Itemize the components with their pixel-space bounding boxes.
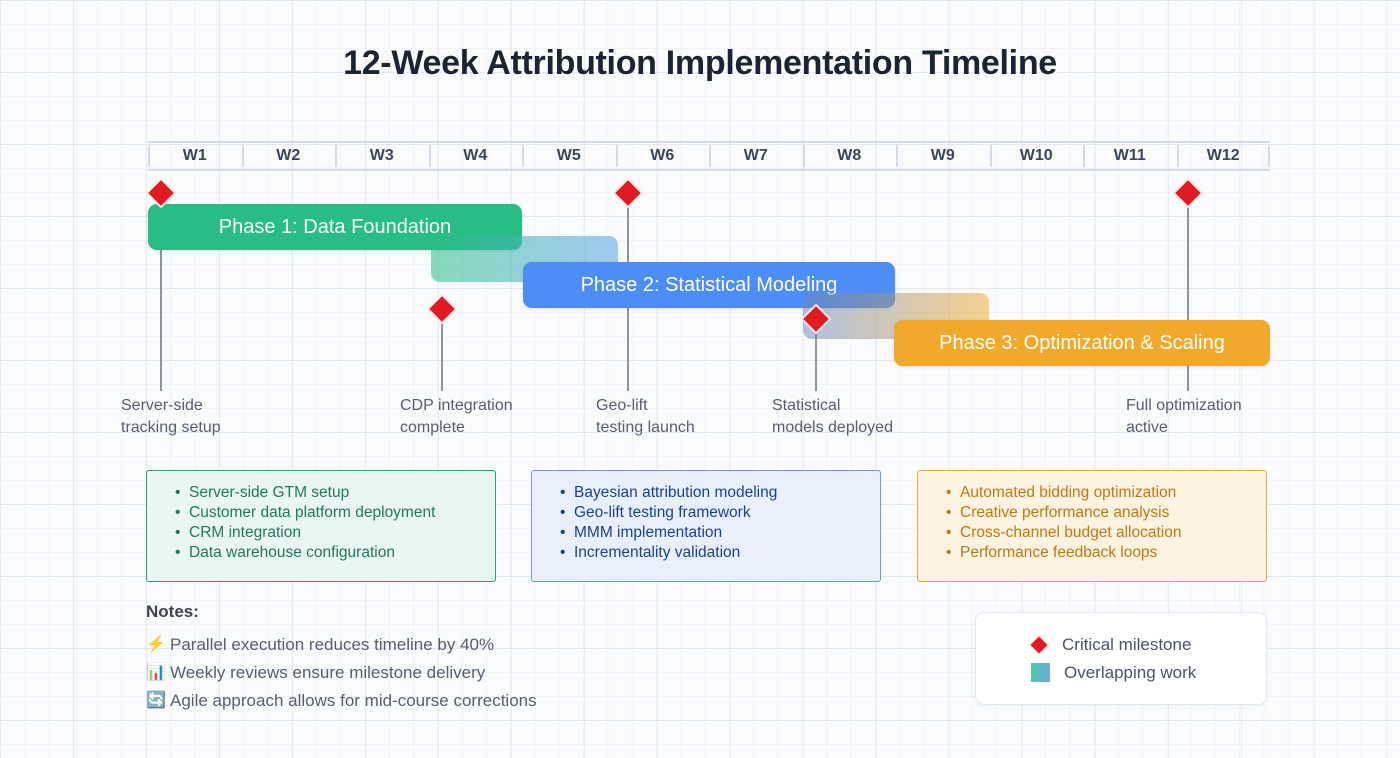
week-cell-w9: W9 <box>896 143 990 169</box>
week-cell-w12: W12 <box>1177 143 1271 169</box>
legend-item-critical-milestone-label: Critical milestone <box>1062 635 1191 655</box>
deliverables-box-phase-3: Automated bidding optimization Creative … <box>917 470 1267 582</box>
milestone-label-1: Server-side tracking setup <box>121 395 221 439</box>
milestone-diamond-2[interactable] <box>426 293 457 324</box>
list-item: Server-side GTM setup <box>189 483 479 503</box>
note-item-1-text: Parallel execution reduces timeline by 4… <box>170 631 494 659</box>
deliverables-list-phase-2: Bayesian attribution modeling Geo-lift t… <box>574 483 864 563</box>
gradient-square-icon <box>1031 663 1050 682</box>
list-item: Incrementality validation <box>574 543 864 563</box>
legend-item-overlapping-work-label: Overlapping work <box>1064 663 1196 683</box>
gantt-track: Phase 1: Data Foundation Phase 2: Statis… <box>148 171 1270 441</box>
week-cell-w6: W6 <box>616 143 710 169</box>
note-item-2-text: Weekly reviews ensure milestone delivery <box>170 659 485 687</box>
phase-bar-3-label: Phase 3: Optimization & Scaling <box>939 332 1225 355</box>
note-item-3: 🔄 Agile approach allows for mid-course c… <box>146 687 537 715</box>
milestone-diamond-5[interactable] <box>1172 177 1203 208</box>
week-cell-w5: W5 <box>522 143 616 169</box>
deliverables-box-phase-1: Server-side GTM setup Customer data plat… <box>146 470 496 582</box>
list-item: Data warehouse configuration <box>189 543 479 563</box>
week-cell-w11: W11 <box>1083 143 1177 169</box>
deliverables-box-phase-2: Bayesian attribution modeling Geo-lift t… <box>531 470 881 582</box>
notes-heading: Notes: <box>146 602 537 622</box>
milestone-label-4: Statistical models deployed <box>772 395 893 439</box>
note-item-3-text: Agile approach allows for mid-course cor… <box>170 687 537 715</box>
legend-panel: Critical milestone Overlapping work <box>975 612 1267 705</box>
week-cell-w1: W1 <box>148 143 242 169</box>
phase-bar-1-label: Phase 1: Data Foundation <box>219 216 451 239</box>
milestone-label-5: Full optimization active <box>1126 395 1242 439</box>
week-cell-w2: W2 <box>242 143 336 169</box>
list-item: Performance feedback loops <box>960 543 1250 563</box>
list-item: Cross-channel budget allocation <box>960 523 1250 543</box>
legend-item-overlapping-work: Overlapping work <box>1031 663 1266 683</box>
notes-section: Notes: ⚡ Parallel execution reduces time… <box>146 602 537 715</box>
list-item: Geo-lift testing framework <box>574 503 864 523</box>
week-header-axis: W1 W2 W3 W4 W5 W6 W7 W8 W9 W10 W11 W12 <box>148 141 1270 171</box>
lightning-bolt-icon: ⚡ <box>146 631 170 659</box>
diamond-icon <box>1028 633 1051 656</box>
week-cell-w7: W7 <box>709 143 803 169</box>
week-cell-w8: W8 <box>803 143 897 169</box>
list-item: Customer data platform deployment <box>189 503 479 523</box>
note-item-2: 📊 Weekly reviews ensure milestone delive… <box>146 659 537 687</box>
note-item-1: ⚡ Parallel execution reduces timeline by… <box>146 631 537 659</box>
week-cell-w4: W4 <box>429 143 523 169</box>
refresh-cycle-icon: 🔄 <box>146 687 170 715</box>
legend-item-critical-milestone: Critical milestone <box>1031 635 1266 655</box>
timeline-canvas: 12-Week Attribution Implementation Timel… <box>0 0 1400 758</box>
list-item: MMM implementation <box>574 523 864 543</box>
milestone-label-3: Geo-lift testing launch <box>596 395 695 439</box>
milestone-label-2: CDP integration complete <box>400 395 513 439</box>
milestone-diamond-3[interactable] <box>612 177 643 208</box>
week-cell-w10: W10 <box>990 143 1084 169</box>
list-item: Automated bidding optimization <box>960 483 1250 503</box>
phase-bar-2-label: Phase 2: Statistical Modeling <box>581 274 838 297</box>
list-item: Creative performance analysis <box>960 503 1250 523</box>
list-item: CRM integration <box>189 523 479 543</box>
deliverables-list-phase-3: Automated bidding optimization Creative … <box>960 483 1250 563</box>
list-item: Bayesian attribution modeling <box>574 483 864 503</box>
deliverables-list-phase-1: Server-side GTM setup Customer data plat… <box>189 483 479 563</box>
page-title: 12-Week Attribution Implementation Timel… <box>0 44 1400 83</box>
week-cell-w3: W3 <box>335 143 429 169</box>
bar-chart-icon: 📊 <box>146 659 170 687</box>
phase-bar-3[interactable]: Phase 3: Optimization & Scaling <box>894 320 1270 366</box>
